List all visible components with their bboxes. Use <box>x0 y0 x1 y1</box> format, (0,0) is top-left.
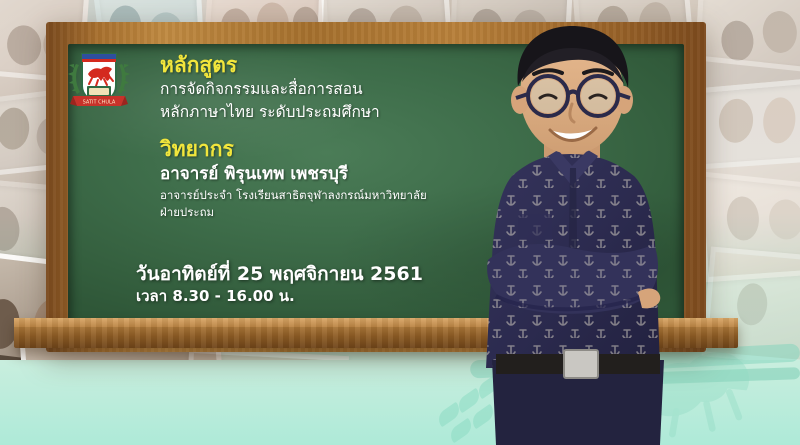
speaker-name: อาจารย์ พิรุนเทพ เพชรบุรี <box>160 162 490 187</box>
speaker-section: วิทยากร อาจารย์ พิรุนเทพ เพชรบุรี อาจารย… <box>160 136 490 221</box>
presenter-photo <box>452 8 702 445</box>
speaker-heading: วิทยากร <box>160 136 490 162</box>
speaker-affiliation-line: ฝ่ายประถม <box>160 204 490 221</box>
speaker-affiliation-line: อาจารย์ประจำ โรงเรียนสาธิตจุฬาลงกรณ์มหาว… <box>160 187 490 204</box>
course-line: การจัดกิจกรรมและสื่อการสอน <box>160 78 490 100</box>
event-schedule: วันอาทิตย์ที่ 25 พฤศจิกายน 2561 เวลา 8.3… <box>136 262 496 306</box>
crest-ribbon-text: SATIT CHULA <box>83 100 116 106</box>
course-line: หลักภาษาไทย ระดับประถมศึกษา <box>160 101 490 123</box>
course-heading: หลักสูตร <box>160 52 490 78</box>
course-section: หลักสูตร การจัดกิจกรรมและสื่อการสอน หลัก… <box>160 52 490 123</box>
event-date: วันอาทิตย์ที่ 25 พฤศจิกายน 2561 <box>136 262 496 287</box>
board-text-content: หลักสูตร การจัดกิจกรรมและสื่อการสอน หลัก… <box>160 52 490 235</box>
poster-canvas: SATIT CHULA หลักสูตร การจัดกิจกรรมและสื่… <box>0 0 800 445</box>
school-crest-icon: SATIT CHULA <box>68 46 130 114</box>
event-time: เวลา 8.30 - 16.00 น. <box>136 287 496 307</box>
